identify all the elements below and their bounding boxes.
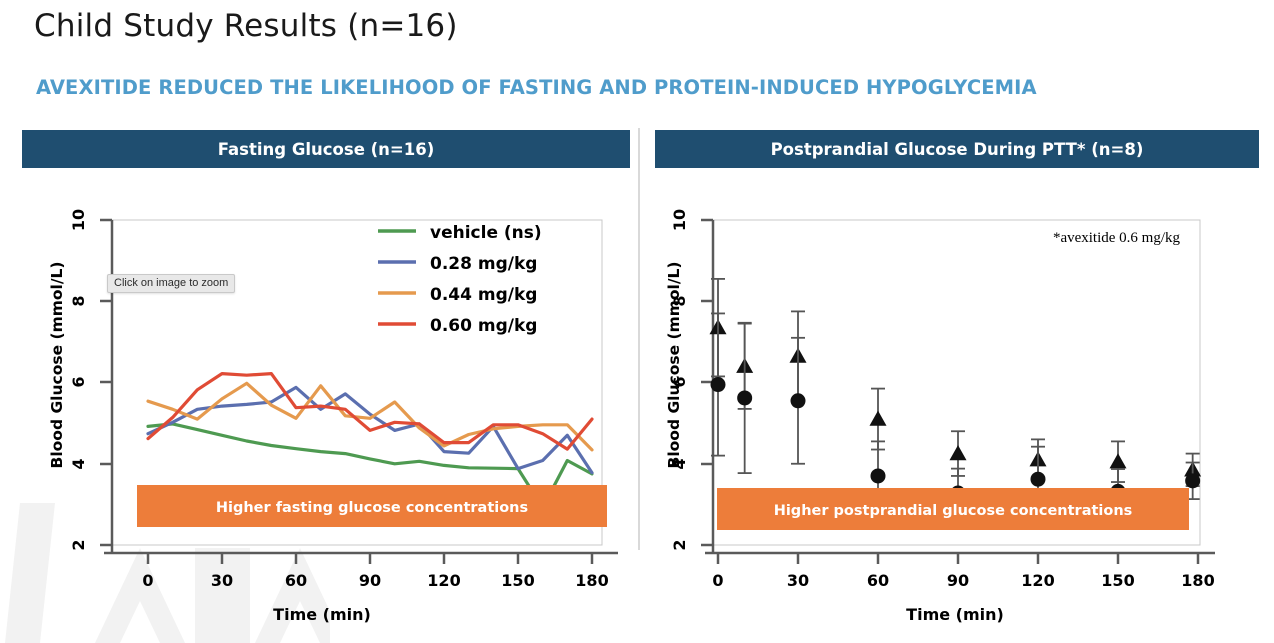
panel-divider [638, 128, 640, 550]
x-tick-150: 150 [501, 571, 534, 590]
marker-circle-3 [871, 468, 886, 483]
x-tick-120: 120 [427, 571, 460, 590]
x-tick-90: 90 [359, 571, 381, 590]
legend-label-dose-060: 0.60 mg/kg [430, 316, 537, 336]
y-tick-4-right: 4 [670, 458, 689, 469]
legend-label-dose-028: 0.28 mg/kg [430, 254, 537, 274]
panel-header-postprandial: Postprandial Glucose During PTT* (n=8) [655, 130, 1259, 168]
y-tick-6: 6 [69, 376, 88, 387]
marker-circle-2 [791, 393, 806, 408]
marker-circle-1 [737, 390, 752, 405]
banner-postprandial: Higher postprandial glucose concentratio… [717, 488, 1189, 530]
page-title: Child Study Results (n=16) [34, 8, 458, 44]
chart-postprandial-glucose[interactable]: Blood Glucose (mmol/L) 10 8 6 4 2 [655, 190, 1259, 610]
banner-postprandial-text: Higher postprandial glucose concentratio… [774, 503, 1133, 519]
chart-fasting-glucose[interactable]: Blood Glucose (mmol/L) 10 8 6 4 2 [22, 190, 630, 610]
zoom-tooltip: Click on image to zoom [107, 274, 235, 293]
marker-circle-0 [711, 377, 726, 392]
y-tick-10-right: 10 [670, 209, 689, 231]
marker-circle-7 [1185, 473, 1200, 488]
x-tick-60-right: 60 [867, 571, 889, 590]
x-tick-30: 30 [211, 571, 233, 590]
fasting-glucose-plot[interactable]: 10 8 6 4 2 0 30 60 90 [22, 190, 630, 610]
y-tick-4: 4 [69, 458, 88, 469]
x-tick-0: 0 [142, 571, 153, 590]
y-tick-8: 8 [69, 295, 88, 306]
y-tick-2-right: 2 [670, 539, 689, 550]
banner-fasting: Higher fasting glucose concentrations [137, 485, 607, 527]
x-tick-0-right: 0 [712, 571, 723, 590]
x-tick-90-right: 90 [947, 571, 969, 590]
y-tick-10: 10 [69, 209, 88, 231]
page-subtitle: AVEXITIDE REDUCED THE LIKELIHOOD OF FAST… [36, 76, 1037, 99]
x-tick-30-right: 30 [787, 571, 809, 590]
panel-postprandial-glucose: Postprandial Glucose During PTT* (n=8) B… [655, 130, 1259, 610]
x-tick-150-right: 150 [1101, 571, 1134, 590]
x-tick-180-right: 180 [1181, 571, 1214, 590]
avexitide-dose-note: *avexitide 0.6 mg/kg [1053, 230, 1181, 246]
x-axis-label-left: Time (min) [273, 605, 371, 624]
x-axis-label-right: Time (min) [906, 605, 1004, 624]
panel-header-fasting: Fasting Glucose (n=16) [22, 130, 630, 168]
x-tick-180: 180 [575, 571, 608, 590]
legend-label-dose-044: 0.44 mg/kg [430, 285, 537, 305]
x-tick-60: 60 [285, 571, 307, 590]
y-tick-6-right: 6 [670, 376, 689, 387]
panel-fasting-glucose: Fasting Glucose (n=16) Blood Glucose (mm… [22, 130, 630, 610]
banner-fasting-text: Higher fasting glucose concentrations [216, 500, 528, 516]
postprandial-glucose-plot[interactable]: 10 8 6 4 2 0 30 60 90 120 [655, 190, 1259, 610]
y-tick-8-right: 8 [670, 295, 689, 306]
legend-label-vehicle: vehicle (ns) [430, 223, 542, 243]
marker-circle-5 [1031, 472, 1046, 487]
x-tick-120-right: 120 [1021, 571, 1054, 590]
y-tick-2: 2 [69, 539, 88, 550]
